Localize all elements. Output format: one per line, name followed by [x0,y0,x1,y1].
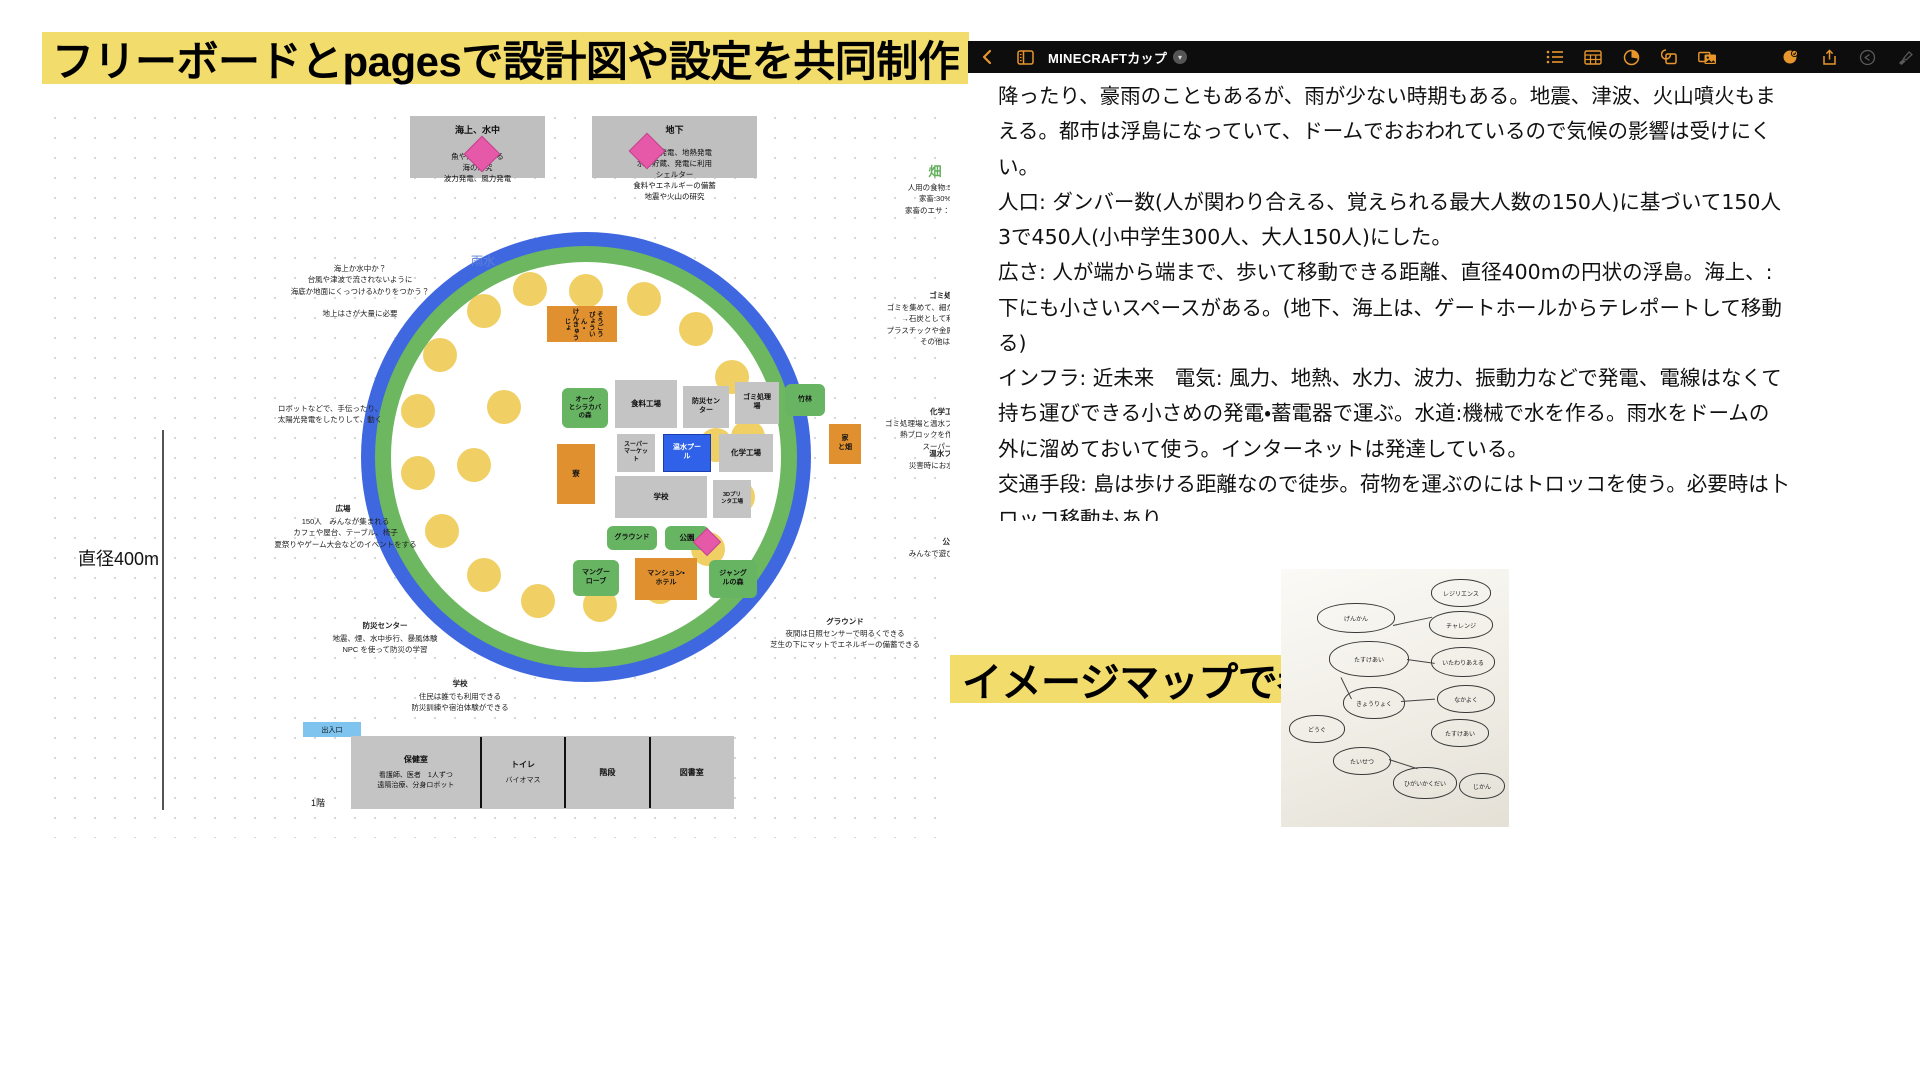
pages-toolbar[interactable]: MINECRAFTカップ ▾ [968,41,1920,73]
building-mansion-hotel[interactable]: マンション・ ホテル [635,558,697,600]
note-park-title: 公園 [900,536,950,547]
note-hotpool-body: 災害時にお水利用できる [865,460,950,471]
doc-line: える。都市は浮島になっていて、ドームでおおわれているので気候の影響は受けにく [998,114,1920,149]
sea-block-title: 海上、水中 [410,123,545,136]
table-icon[interactable] [1582,46,1604,68]
sidebar-icon[interactable] [1014,46,1036,68]
undo-icon[interactable] [1856,46,1878,68]
building-hot-pool[interactable]: 温水プー ル [663,434,711,472]
diameter-measure-line [162,430,164,810]
share-icon[interactable] [1818,46,1840,68]
sea-block[interactable]: 海上、水中 魚や海藻をとる 海の研究 波力発電、風力発電 [410,116,545,178]
doc-line: 交通手段: 島は歩ける距離なので徒歩。荷物を運ぶのにはトロッコを使う。必要時は卜 [998,467,1920,502]
room-stairs[interactable]: 階段 [566,737,650,808]
island-dot [401,456,435,490]
mindmap-bubble: いたわりあえる [1431,647,1495,677]
building-jungle-forest[interactable]: ジャング ルの森 [709,560,757,598]
freeboard-canvas[interactable]: 直径400m 海上、水中 魚や海藻をとる 海の研究 波力発電、風力発電 地下 マ… [45,108,950,838]
doc-line: 広さ: 人が端から端まで、歩いて移動できる距離、直径400mの円状の浮島。海上、… [998,255,1920,290]
mindmap-bubble: レジリエンス [1431,579,1491,607]
note-school-body: 住民は誰でも利用できる 防災訓練や宿泊体験ができる [365,691,555,714]
building-chemical-plant[interactable]: 化学工場 [719,434,773,472]
note-robots: ロボットなどで、手伝ったり、 太陽光発電をしたりして、動く [240,403,420,426]
pages-app-window[interactable]: MINECRAFTカップ ▾ [968,41,1920,521]
island-dot [569,274,603,308]
mindmap-bubble: きょうりょく [1343,687,1405,719]
island-dot [627,282,661,316]
list-icon[interactable] [1544,46,1566,68]
note-ground-title: グラウンド [785,616,905,627]
slide-stage: フリーボードとpagesで設計図や設定を共同制作 直径400m 海上、水中 魚や… [0,0,1920,1080]
note-sea-or-water: 海上か水中か？ 台風や津波で流されないように 海底か地面にくっつけるλかりをつか… [255,263,465,319]
document-title: MINECRAFTカップ [1048,48,1167,67]
room-infirmary[interactable]: 保健室 看護師、医者 1人ずつ 遠隔治療、分身ロボット [352,737,482,808]
building-food-factory[interactable]: 食料工場 [615,380,677,428]
underground-block-title: 地下 [592,123,757,136]
doc-line: い。 [998,150,1920,185]
main-caption: フリーボードとpagesで設計図や設定を共同制作 [42,32,969,84]
mindmap-bubble: どうぐ [1289,715,1345,743]
underground-block-body: マグマ発電、地熱発電 水を貯蔵、発電に利用 シェルター 食料やエネルギーの備蓄 … [592,148,757,202]
room-library-name: 図書室 [680,767,704,778]
media-icon[interactable] [1696,46,1718,68]
note-chemical-title: 化学工場 [885,406,950,417]
island-dot [423,338,457,372]
building-bamboo-grove[interactable]: 竹林 [785,384,825,416]
doc-line: 下にも小さいスペースがある。(地下、海上は、ゲートホールからテレポートして移動 [998,291,1920,326]
building-3d-printer-factory[interactable]: 3Dプリ ンタ工場 [713,480,751,518]
mindmap-bubble: チャレンジ [1429,611,1493,639]
building-dormitory[interactable]: 寮 [557,444,595,504]
room-infirmary-name: 保健室 [404,754,428,765]
mindmap-bubble: たすけあい [1431,719,1489,747]
room-toilet-name: トイレ [511,759,535,770]
island-dot [457,448,491,482]
doc-line: 人口: ダンバー数(人が関わり合える、覚えられる最大人数の150人)に基づいて1… [998,185,1920,220]
room-toilet-sub: バイオマス [505,776,540,786]
note-waste-title: ゴミ処理場 [883,290,950,301]
building-disaster-center[interactable]: 防災セン ター [683,386,729,428]
island-dot [487,390,521,424]
note-plaza-title: 広場 [268,503,418,514]
note-waste-body: ゴミを集めて、細かくして、水熱処理 →石炭として利用→輸出する プラスチックや金… [835,302,950,347]
note-disaster-center-body: 地震、煙、水中歩行、暴風体験 NPC を使って防災の学習 [285,633,485,656]
note-park-body: みんなで遊びながら発電 [865,548,950,559]
building-supermarket[interactable]: スーパー マーケッ ト [617,434,655,472]
chevron-down-icon[interactable]: ▾ [1173,50,1187,64]
collaborate-icon[interactable] [1780,46,1802,68]
mindmap-bubble: なかよく [1437,685,1495,713]
island-dot [521,584,555,618]
note-school-title: 学校 [385,678,535,689]
note-hotpool-title: 温水プール [898,448,950,459]
note-disaster-center-title: 防災センター [310,620,460,631]
note-field-body: 人用の食物:50% 家畜:30% 家畜のエサ：20% [835,182,950,216]
building-mangrove[interactable]: マングー ローブ [573,560,619,596]
diameter-label: 直径400m [78,545,159,571]
entrance-tab[interactable]: 出入口 [303,722,361,737]
mindmap-bubble: たすけあい [1329,641,1409,677]
building-hospital[interactable]: そうごう びょういん・ けんきゅうじょ [547,306,617,342]
doc-line: ロッコ移動もあり。 [998,502,1920,521]
doc-line: 外に溜めておいて使う。インターネットは発達している。 [998,432,1920,467]
chart-icon[interactable] [1620,46,1642,68]
document-title-group[interactable]: MINECRAFTカップ ▾ [1048,48,1187,67]
building-waste-plant[interactable]: ゴミ処理 場 [735,382,779,424]
doc-line: る) [998,326,1920,361]
island-dot [467,558,501,592]
room-library[interactable]: 図書室 [651,737,733,808]
mindmap-bubble: じかん [1459,773,1505,799]
mindmap-bubble: たいせつ [1333,747,1391,775]
floor-plan[interactable]: 保健室 看護師、医者 1人ずつ 遠隔治療、分身ロボット トイレ バイオマス 階段… [351,736,734,809]
room-toilet[interactable]: トイレ バイオマス [482,737,566,808]
floor-level-label: 1階 [311,796,325,809]
mindmap-photo[interactable]: レジリエンス げんかん チャレンジ たすけあい いたわりあえる きょうりょく な… [1281,569,1509,827]
mindmap-bubble: げんかん [1317,603,1395,633]
doc-line: 降ったり、豪雨のこともあるが、雨が少ない時期もある。地震、津波、火山噴火もま [998,79,1920,114]
underground-block[interactable]: 地下 マグマ発電、地熱発電 水を貯蔵、発電に利用 シェルター 食料やエネルギーの… [592,116,757,178]
building-oak-birch-forest[interactable]: オーク とシラカバ の森 [562,388,608,428]
note-field-title: 畑 [890,162,950,182]
island-dot [467,294,501,328]
note-chemical-body: ゴミ処理場と温水プールに熱が必要 熱ブロックを作成する工場 スーパー肥料 [845,418,950,452]
room-stairs-name: 階段 [599,767,615,778]
note-plaza-body: 150人 みんなが集まれる カフェや屋台、テーブル、椅子 夏祭りやゲーム大会など… [238,516,453,550]
format-brush-icon[interactable] [1894,46,1916,68]
building-ground[interactable]: グラウンド [607,526,657,550]
note-ground-body: 夜間は日照センサーで明るくできる 芝生の下にマットでエネルギーの備蓄できる [735,628,950,651]
doc-line: 持ち運びできる小さめの発電・蓄電器で運ぶ。水道:機械で水を作る。雨水をドームの [998,396,1920,431]
doc-line: 3で450人(小中学生300人、大人150人)にした。 [998,220,1920,255]
doc-line: インフラ: 近未来 電気: 風力、地熱、水力、波力、振動力などで発電、電線はなく… [998,361,1920,396]
back-chevron-icon[interactable] [976,46,998,68]
shape-icon[interactable] [1658,46,1680,68]
mindmap-bubble: ひがいかくだい [1393,767,1457,799]
building-school[interactable]: 学校 [615,476,707,518]
room-infirmary-sub: 看護師、医者 1人ずつ 遠隔治療、分身ロボット [377,771,454,791]
island-dot [513,272,547,306]
document-body[interactable]: 降ったり、豪雨のこともあるが、雨が少ない時期もある。地震、津波、火山噴火もま え… [968,73,1920,521]
island-dot [679,312,713,346]
